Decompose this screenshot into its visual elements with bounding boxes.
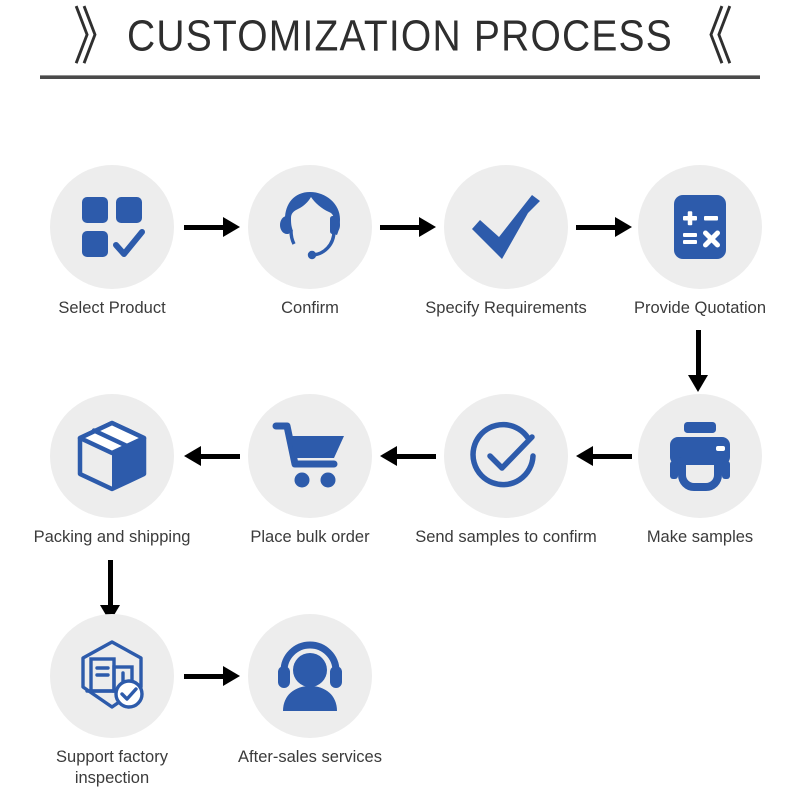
checkmark-icon: [466, 187, 546, 267]
flow-step-packing-and-shipping[interactable]: Packing and shipping: [12, 394, 212, 548]
calculator-icon: [665, 192, 735, 262]
arrow-head: [419, 217, 436, 237]
arrow-row1-step2-to-step3: [380, 216, 436, 238]
flow-step-provide-quotation[interactable]: Provide Quotation: [600, 165, 800, 319]
flow-step-after-sales-services[interactable]: After-sales services: [210, 614, 410, 768]
arrow-shaft: [593, 454, 632, 459]
arrow-shaft: [108, 560, 113, 605]
arrow-shaft: [696, 330, 701, 375]
arrow-head: [184, 446, 201, 466]
flow-step-label: Provide Quotation: [600, 298, 800, 319]
flow-step-place-bulk-order[interactable]: Place bulk order: [235, 394, 385, 548]
flow-step-label: Support factory inspection: [37, 747, 187, 789]
flow-step-label: Send samples to confirm: [406, 527, 606, 548]
flow-step-select-product[interactable]: Select Product: [37, 165, 187, 319]
factory-inspection-shield-icon: [73, 637, 151, 715]
flow-step-icon-circle: [638, 394, 762, 518]
flow-step-icon-circle: [444, 394, 568, 518]
flow-step-make-samples[interactable]: Make samples: [625, 394, 775, 548]
arrow-row1-step3-to-step4: [576, 216, 632, 238]
arrow-row2-step2-to-step1: [184, 445, 240, 467]
flow-step-icon-circle: [50, 614, 174, 738]
arrow-head: [688, 375, 708, 392]
flow-step-icon-circle: [50, 165, 174, 289]
flow-step-confirm[interactable]: Confirm: [235, 165, 385, 319]
flow-step-label: Select Product: [37, 298, 187, 319]
arrow-row1-step1-to-step2: [184, 216, 240, 238]
printer-icon: [663, 419, 737, 493]
flow-step-label: Place bulk order: [235, 527, 385, 548]
package-box-icon: [74, 418, 150, 494]
squares-check-icon: [76, 191, 148, 263]
flow-step-icon-circle: [248, 165, 372, 289]
arrow-row2-to-row3: [99, 560, 121, 622]
arrow-head: [223, 217, 240, 237]
arrow-shaft: [576, 225, 615, 230]
arrow-head: [576, 446, 593, 466]
arrow-head: [380, 446, 397, 466]
flow-step-label: Packing and shipping: [12, 527, 212, 548]
shopping-cart-icon: [272, 418, 348, 494]
flow-step-support-factory-inspection[interactable]: Support factory inspection: [37, 614, 187, 789]
flow-step-label: After-sales services: [210, 747, 410, 768]
arrow-row2-step3-to-step2: [380, 445, 436, 467]
process-flow-diagram: Select Product Confirm: [0, 0, 800, 800]
flow-step-label: Confirm: [235, 298, 385, 319]
arrow-shaft: [201, 454, 240, 459]
arrow-shaft: [184, 674, 223, 679]
arrow-row3-step1-to-step2: [184, 665, 240, 687]
arrow-head: [615, 217, 632, 237]
arrow-shaft: [380, 225, 419, 230]
flow-step-specify-requirements[interactable]: Specify Requirements: [406, 165, 606, 319]
arrow-shaft: [397, 454, 436, 459]
circle-check-icon: [468, 418, 544, 494]
flow-step-icon-circle: [248, 614, 372, 738]
flow-step-icon-circle: [50, 394, 174, 518]
flow-step-icon-circle: [638, 165, 762, 289]
arrow-row2-step4-to-step3: [576, 445, 632, 467]
headset-person-icon: [272, 638, 348, 714]
flow-step-label: Specify Requirements: [406, 298, 606, 319]
arrow-shaft: [184, 225, 223, 230]
arrow-row1-to-row2: [687, 330, 709, 392]
arrow-head: [223, 666, 240, 686]
flow-step-icon-circle: [248, 394, 372, 518]
flow-step-send-samples-to-confirm[interactable]: Send samples to confirm: [406, 394, 606, 548]
support-agent-icon: [269, 186, 351, 268]
flow-step-icon-circle: [444, 165, 568, 289]
flow-step-label: Make samples: [625, 527, 775, 548]
